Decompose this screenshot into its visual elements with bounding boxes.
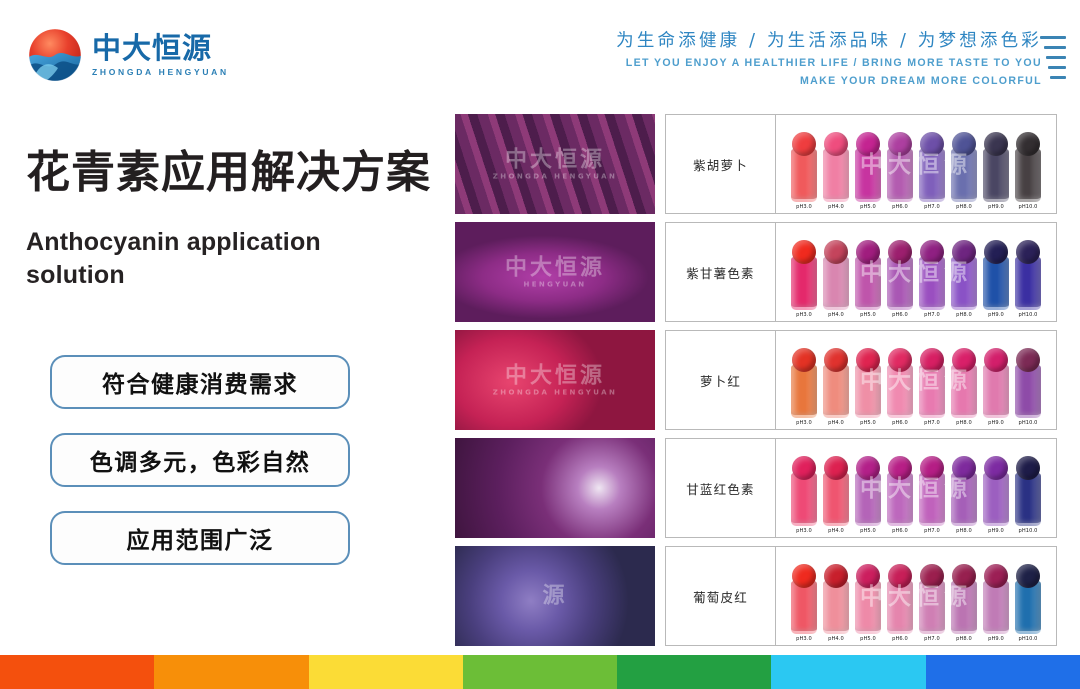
vial-cap: [824, 456, 848, 480]
table-row: 紫甘薯色素中大恒源pH3.0pH4.0pH5.0pH6.0pH7.0pH8.0p…: [665, 222, 1057, 322]
ph-series-cell: 中大恒源pH3.0pH4.0pH5.0pH6.0pH7.0pH8.0pH9.0p…: [776, 115, 1056, 213]
vial-pH5-0: pH5.0: [853, 132, 883, 210]
vial-cap: [952, 456, 976, 480]
vial-cap: [920, 132, 944, 156]
red-cabbage-photo: [455, 438, 655, 538]
ph-label: pH6.0: [892, 420, 908, 426]
vial-tube: [919, 473, 945, 526]
vial-pH4-0: pH4.0: [821, 240, 851, 318]
ph-label: pH3.0: [796, 636, 812, 642]
ph-label: pH4.0: [828, 528, 844, 534]
tagline-dash-4: [1050, 76, 1066, 79]
ph-label: pH3.0: [796, 528, 812, 534]
vial-pH5-0: pH5.0: [853, 348, 883, 426]
page-title-cn: 花青素应用解决方案: [26, 136, 431, 200]
vial-tube: [951, 149, 977, 202]
vial-tube: [887, 365, 913, 418]
vial-pH8-0: pH8.0: [949, 348, 979, 426]
vial-pH3-0: pH3.0: [789, 348, 819, 426]
vial-pH10-0: pH10.0: [1013, 240, 1043, 318]
vial-pH7-0: pH7.0: [917, 348, 947, 426]
vial-cap: [792, 348, 816, 372]
vial-tube: [951, 257, 977, 310]
ph-label: pH7.0: [924, 420, 940, 426]
purple-carrot-photo: 中大恒源ZHONGDA HENGYUAN: [455, 114, 655, 214]
feature-bullet-list: 符合健康消费需求色调多元，色彩自然应用范围广泛: [50, 355, 350, 565]
vial-cap: [984, 564, 1008, 588]
vial-cap: [888, 456, 912, 480]
vial-cap: [984, 456, 1008, 480]
vial-tube: [919, 581, 945, 634]
ph-label: pH8.0: [956, 312, 972, 318]
vial-cap: [824, 564, 848, 588]
vial-pH5-0: pH5.0: [853, 456, 883, 534]
vial-tube: [791, 257, 817, 310]
vial-cap: [920, 456, 944, 480]
ph-label: pH10.0: [1018, 204, 1037, 210]
ph-label: pH8.0: [956, 636, 972, 642]
vial-row: pH3.0pH4.0pH5.0pH6.0pH7.0pH8.0pH9.0pH10.…: [789, 456, 1043, 534]
vial-tube: [823, 149, 849, 202]
vial-row: pH3.0pH4.0pH5.0pH6.0pH7.0pH8.0pH9.0pH10.…: [789, 564, 1043, 642]
vial-tube: [855, 149, 881, 202]
vial-cap: [1016, 348, 1040, 372]
vial-pH6-0: pH6.0: [885, 564, 915, 642]
color-band-1: [0, 655, 154, 689]
vial-cap: [824, 132, 848, 156]
vial-pH6-0: pH6.0: [885, 348, 915, 426]
brand-name-en: ZHONGDA HENGYUAN: [92, 67, 229, 77]
ph-label: pH7.0: [924, 636, 940, 642]
vial-pH8-0: pH8.0: [949, 132, 979, 210]
color-band-4: [463, 655, 617, 689]
pigment-name-cell: 紫胡萝卜: [666, 115, 776, 213]
vial-tube: [1015, 257, 1041, 310]
tagline-en-line2: MAKE YOUR DREAM MORE COLORFUL: [616, 72, 1042, 90]
vial-cap: [952, 132, 976, 156]
table-row: 葡萄皮红中大恒源pH3.0pH4.0pH5.0pH6.0pH7.0pH8.0pH…: [665, 546, 1057, 646]
color-band-3: [309, 655, 463, 689]
tagline-block: 为生命添健康 / 为生活添品味 / 为梦想添色彩 LET YOU ENJOY A…: [616, 30, 1042, 90]
ph-label: pH3.0: [796, 204, 812, 210]
vial-tube: [855, 473, 881, 526]
vial-pH3-0: pH3.0: [789, 456, 819, 534]
vial-pH8-0: pH8.0: [949, 564, 979, 642]
ph-label: pH9.0: [988, 312, 1004, 318]
table-row: 萝卜红中大恒源pH3.0pH4.0pH5.0pH6.0pH7.0pH8.0pH9…: [665, 330, 1057, 430]
vial-cap: [856, 564, 880, 588]
pigment-name-cell: 葡萄皮红: [666, 547, 776, 645]
vial-tube: [951, 365, 977, 418]
ph-label: pH7.0: [924, 312, 940, 318]
vial-cap: [920, 240, 944, 264]
vial-cap: [792, 132, 816, 156]
ph-label: pH10.0: [1018, 528, 1037, 534]
ph-label: pH7.0: [924, 528, 940, 534]
vial-cap: [952, 564, 976, 588]
vial-cap: [856, 348, 880, 372]
vial-pH10-0: pH10.0: [1013, 348, 1043, 426]
vial-tube: [791, 365, 817, 418]
vial-tube: [791, 149, 817, 202]
ph-label: pH4.0: [828, 312, 844, 318]
ph-label: pH6.0: [892, 204, 908, 210]
vial-cap: [888, 564, 912, 588]
vial-tube: [919, 365, 945, 418]
vial-tube: [887, 581, 913, 634]
red-radish-photo: 中大恒源ZHONGDA HENGYUAN: [455, 330, 655, 430]
tagline-en-line1: LET YOU ENJOY A HEALTHIER LIFE / BRING M…: [616, 54, 1042, 72]
ph-series-cell: 中大恒源pH3.0pH4.0pH5.0pH6.0pH7.0pH8.0pH9.0p…: [776, 547, 1056, 645]
tagline-dash-2: [1046, 56, 1066, 59]
vial-cap: [1016, 132, 1040, 156]
photo-watermark: 中大恒源ZHONGDA HENGYUAN: [493, 147, 617, 180]
vial-tube: [951, 581, 977, 634]
tagline-dash-0: [1040, 36, 1066, 39]
vial-tube: [887, 149, 913, 202]
vial-pH4-0: pH4.0: [821, 564, 851, 642]
ph-label: pH4.0: [828, 420, 844, 426]
ph-label: pH9.0: [988, 636, 1004, 642]
brand-logo: 中大恒源 ZHONGDA HENGYUAN: [28, 28, 229, 82]
vial-tube: [791, 473, 817, 526]
vial-row: pH3.0pH4.0pH5.0pH6.0pH7.0pH8.0pH9.0pH10.…: [789, 240, 1043, 318]
vial-tube: [951, 473, 977, 526]
vial-pH7-0: pH7.0: [917, 240, 947, 318]
vial-pH4-0: pH4.0: [821, 456, 851, 534]
color-band-6: [771, 655, 925, 689]
ph-label: pH3.0: [796, 420, 812, 426]
vial-cap: [856, 132, 880, 156]
vial-pH5-0: pH5.0: [853, 240, 883, 318]
vial-cap: [888, 132, 912, 156]
left-content-panel: 花青素应用解决方案 Anthocyanin application soluti…: [0, 108, 450, 653]
bottom-color-strip: [0, 655, 1080, 689]
tagline-cn: 为生命添健康 / 为生活添品味 / 为梦想添色彩: [616, 30, 1042, 54]
sun-over-waves-logo-icon: [28, 28, 82, 82]
ph-label: pH8.0: [956, 528, 972, 534]
ph-label: pH10.0: [1018, 636, 1037, 642]
feature-bullet-3[interactable]: 应用范围广泛: [50, 511, 350, 565]
color-band-5: [617, 655, 771, 689]
brand-name-cn: 中大恒源: [92, 33, 229, 63]
brand-name-block: 中大恒源 ZHONGDA HENGYUAN: [92, 33, 229, 76]
vial-tube: [887, 257, 913, 310]
vial-row: pH3.0pH4.0pH5.0pH6.0pH7.0pH8.0pH9.0pH10.…: [789, 348, 1043, 426]
vial-cap: [888, 240, 912, 264]
vial-pH4-0: pH4.0: [821, 348, 851, 426]
vial-row: pH3.0pH4.0pH5.0pH6.0pH7.0pH8.0pH9.0pH10.…: [789, 132, 1043, 210]
ph-series-cell: 中大恒源pH3.0pH4.0pH5.0pH6.0pH7.0pH8.0pH9.0p…: [776, 223, 1056, 321]
vial-tube: [983, 365, 1009, 418]
ph-label: pH5.0: [860, 528, 876, 534]
vial-cap: [1016, 240, 1040, 264]
vial-cap: [952, 348, 976, 372]
feature-bullet-label: 符合健康消费需求: [102, 365, 298, 399]
vial-tube: [983, 581, 1009, 634]
ph-label: pH5.0: [860, 312, 876, 318]
vial-pH6-0: pH6.0: [885, 456, 915, 534]
feature-bullet-label: 色调多元，色彩自然: [90, 443, 311, 477]
vial-pH9-0: pH9.0: [981, 348, 1011, 426]
vial-tube: [1015, 365, 1041, 418]
ph-label: pH5.0: [860, 204, 876, 210]
vial-pH10-0: pH10.0: [1013, 456, 1043, 534]
vial-tube: [919, 149, 945, 202]
vial-pH9-0: pH9.0: [981, 564, 1011, 642]
vial-tube: [983, 473, 1009, 526]
ph-label: pH6.0: [892, 636, 908, 642]
table-row: 紫胡萝卜中大恒源pH3.0pH4.0pH5.0pH6.0pH7.0pH8.0pH…: [665, 114, 1057, 214]
vial-cap: [1016, 564, 1040, 588]
vial-tube: [823, 581, 849, 634]
vial-cap: [920, 348, 944, 372]
ph-label: pH7.0: [924, 204, 940, 210]
vial-pH6-0: pH6.0: [885, 240, 915, 318]
ph-label: pH5.0: [860, 420, 876, 426]
ph-label: pH3.0: [796, 312, 812, 318]
tagline-dash-3: [1048, 66, 1066, 69]
page-title-en: Anthocyanin application solution: [26, 226, 406, 292]
vial-pH7-0: pH7.0: [917, 456, 947, 534]
vial-pH4-0: pH4.0: [821, 132, 851, 210]
vial-cap: [856, 240, 880, 264]
vial-tube: [983, 257, 1009, 310]
ph-label: pH9.0: [988, 420, 1004, 426]
ph-label: pH6.0: [892, 312, 908, 318]
vial-cap: [920, 564, 944, 588]
ph-label: pH5.0: [860, 636, 876, 642]
purple-grape-photo: 源: [455, 546, 655, 646]
color-band-7: [926, 655, 1080, 689]
ph-label: pH4.0: [828, 636, 844, 642]
vial-pH9-0: pH9.0: [981, 132, 1011, 210]
pigment-name-cell: 萝卜红: [666, 331, 776, 429]
ph-label: pH10.0: [1018, 420, 1037, 426]
ph-label: pH9.0: [988, 204, 1004, 210]
ph-color-table: 紫胡萝卜中大恒源pH3.0pH4.0pH5.0pH6.0pH7.0pH8.0pH…: [665, 114, 1057, 654]
vial-cap: [984, 240, 1008, 264]
vial-tube: [887, 473, 913, 526]
vial-tube: [1015, 581, 1041, 634]
vial-pH3-0: pH3.0: [789, 240, 819, 318]
vial-cap: [792, 456, 816, 480]
vial-pH6-0: pH6.0: [885, 132, 915, 210]
vial-pH3-0: pH3.0: [789, 564, 819, 642]
source-photo-column: 中大恒源ZHONGDA HENGYUAN中大恒源HENGYUAN中大恒源ZHON…: [455, 114, 655, 654]
purple-sweet-potato-photo: 中大恒源HENGYUAN: [455, 222, 655, 322]
vial-cap: [984, 132, 1008, 156]
vial-cap: [824, 240, 848, 264]
feature-bullet-2[interactable]: 色调多元，色彩自然: [50, 433, 350, 487]
vial-tube: [1015, 473, 1041, 526]
vial-pH8-0: pH8.0: [949, 240, 979, 318]
photo-watermark: 源: [542, 583, 567, 608]
ph-label: pH9.0: [988, 528, 1004, 534]
vial-tube: [823, 473, 849, 526]
vial-pH9-0: pH9.0: [981, 240, 1011, 318]
ph-label: pH8.0: [956, 204, 972, 210]
tagline-dash-1: [1044, 46, 1066, 49]
page-header: 中大恒源 ZHONGDA HENGYUAN 为生命添健康 / 为生活添品味 / …: [0, 0, 1080, 108]
vial-cap: [792, 240, 816, 264]
ph-label: pH10.0: [1018, 312, 1037, 318]
feature-bullet-1[interactable]: 符合健康消费需求: [50, 355, 350, 409]
vial-pH3-0: pH3.0: [789, 132, 819, 210]
vial-cap: [824, 348, 848, 372]
vial-pH10-0: pH10.0: [1013, 132, 1043, 210]
vial-pH7-0: pH7.0: [917, 132, 947, 210]
vial-pH9-0: pH9.0: [981, 456, 1011, 534]
vial-cap: [952, 240, 976, 264]
vial-pH7-0: pH7.0: [917, 564, 947, 642]
ph-label: pH8.0: [956, 420, 972, 426]
vial-tube: [855, 365, 881, 418]
vial-tube: [855, 257, 881, 310]
photo-watermark: 中大恒源HENGYUAN: [505, 255, 605, 288]
vial-tube: [1015, 149, 1041, 202]
vial-cap: [984, 348, 1008, 372]
ph-series-cell: 中大恒源pH3.0pH4.0pH5.0pH6.0pH7.0pH8.0pH9.0p…: [776, 439, 1056, 537]
pigment-name-cell: 甘蓝红色素: [666, 439, 776, 537]
vial-cap: [792, 564, 816, 588]
vial-cap: [1016, 456, 1040, 480]
table-row: 甘蓝红色素中大恒源pH3.0pH4.0pH5.0pH6.0pH7.0pH8.0p…: [665, 438, 1057, 538]
vial-cap: [856, 456, 880, 480]
tagline-dash-decoration: [1040, 36, 1066, 79]
ph-label: pH4.0: [828, 204, 844, 210]
vial-tube: [823, 257, 849, 310]
ph-label: pH6.0: [892, 528, 908, 534]
vial-tube: [983, 149, 1009, 202]
pigment-name-cell: 紫甘薯色素: [666, 223, 776, 321]
vial-tube: [855, 581, 881, 634]
color-band-2: [154, 655, 308, 689]
vial-pH5-0: pH5.0: [853, 564, 883, 642]
vial-pH10-0: pH10.0: [1013, 564, 1043, 642]
vial-tube: [791, 581, 817, 634]
feature-bullet-label: 应用范围广泛: [127, 521, 274, 555]
vial-tube: [823, 365, 849, 418]
vial-tube: [919, 257, 945, 310]
photo-watermark: 中大恒源ZHONGDA HENGYUAN: [493, 363, 617, 396]
vial-pH8-0: pH8.0: [949, 456, 979, 534]
vial-cap: [888, 348, 912, 372]
ph-series-cell: 中大恒源pH3.0pH4.0pH5.0pH6.0pH7.0pH8.0pH9.0p…: [776, 331, 1056, 429]
